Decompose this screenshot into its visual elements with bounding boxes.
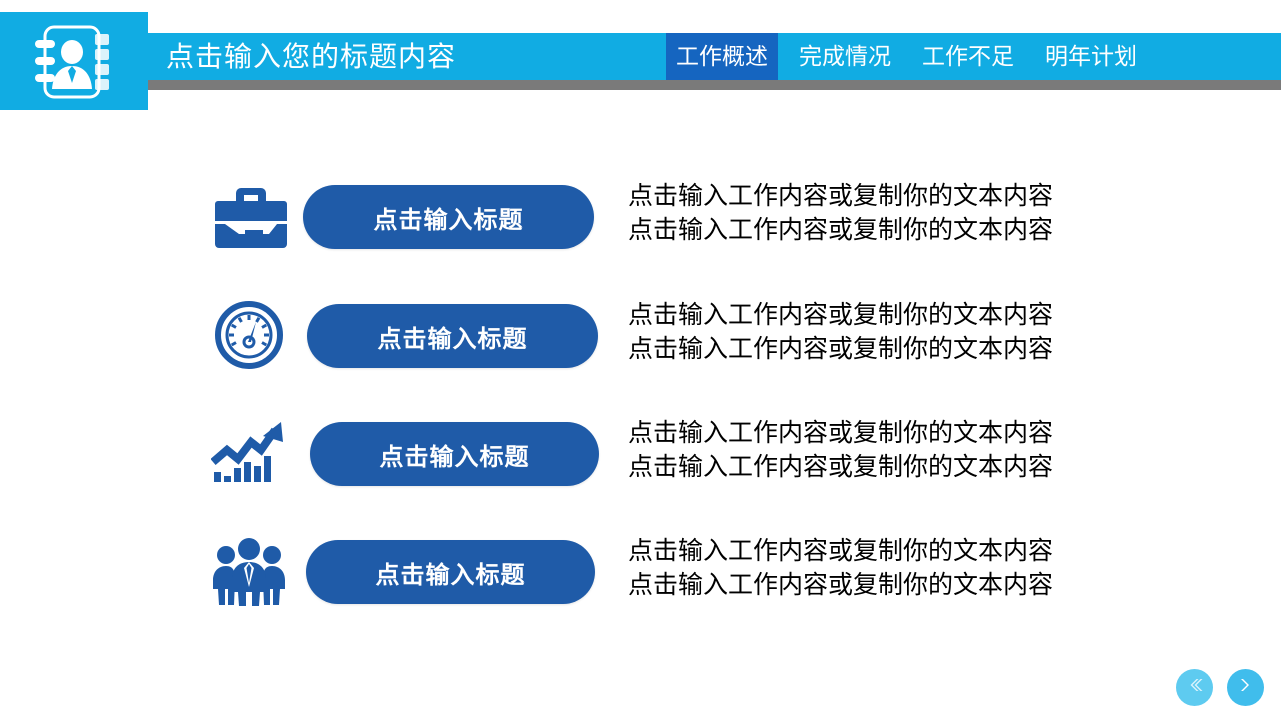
page-title: 点击输入您的标题内容	[166, 33, 456, 80]
nav-tab-next-year-plan[interactable]: 明年计划	[1035, 33, 1147, 80]
speedometer-icon	[206, 292, 292, 378]
row-description: 点击输入工作内容或复制你的文本内容 点击输入工作内容或复制你的文本内容	[628, 298, 1053, 366]
nav-tab-shortcomings[interactable]: 工作不足	[912, 33, 1024, 80]
row-description-line-2: 点击输入工作内容或复制你的文本内容	[628, 332, 1053, 366]
chevron-right-icon	[1236, 675, 1256, 700]
row-description-line-2: 点击输入工作内容或复制你的文本内容	[628, 450, 1053, 484]
row-description-line-2: 点击输入工作内容或复制你的文本内容	[628, 213, 1053, 247]
people-group-icon	[206, 528, 292, 614]
contact-book-icon	[33, 19, 117, 108]
row-description: 点击输入工作内容或复制你的文本内容 点击输入工作内容或复制你的文本内容	[628, 534, 1053, 602]
row-title-button[interactable]: 点击输入标题	[307, 304, 598, 368]
row-description: 点击输入工作内容或复制你的文本内容 点击输入工作内容或复制你的文本内容	[628, 416, 1053, 484]
next-slide-button[interactable]	[1227, 669, 1264, 706]
logo-block	[0, 12, 148, 110]
row-title-button[interactable]: 点击输入标题	[310, 422, 599, 486]
content-row: 点击输入标题 点击输入工作内容或复制你的文本内容 点击输入工作内容或复制你的文本…	[0, 169, 1281, 265]
content-row: 点击输入标题 点击输入工作内容或复制你的文本内容 点击输入工作内容或复制你的文本…	[0, 524, 1281, 620]
nav-tab-work-overview[interactable]: 工作概述	[666, 33, 778, 80]
header-gray-underline	[128, 79, 1281, 90]
slide-content: 点击输入标题 点击输入工作内容或复制你的文本内容 点击输入工作内容或复制你的文本…	[0, 112, 1281, 720]
slide-pager	[1176, 669, 1264, 706]
content-row: 点击输入标题 点击输入工作内容或复制你的文本内容 点击输入工作内容或复制你的文本…	[0, 406, 1281, 502]
content-row: 点击输入标题 点击输入工作内容或复制你的文本内容 点击输入工作内容或复制你的文本…	[0, 288, 1281, 384]
previous-slide-button[interactable]	[1176, 669, 1213, 706]
chevron-double-left-icon	[1185, 675, 1205, 700]
growth-chart-icon	[206, 410, 292, 496]
row-description-line-1: 点击输入工作内容或复制你的文本内容	[628, 179, 1053, 213]
row-description-line-2: 点击输入工作内容或复制你的文本内容	[628, 568, 1053, 602]
header-nav: 工作概述 完成情况 工作不足 明年计划	[666, 33, 1147, 80]
row-description-line-1: 点击输入工作内容或复制你的文本内容	[628, 298, 1053, 332]
row-description-line-1: 点击输入工作内容或复制你的文本内容	[628, 416, 1053, 450]
row-title-button[interactable]: 点击输入标题	[303, 185, 594, 249]
row-description-line-1: 点击输入工作内容或复制你的文本内容	[628, 534, 1053, 568]
slide-header: 点击输入您的标题内容 工作概述 完成情况 工作不足 明年计划	[0, 0, 1281, 112]
nav-tab-completion-status[interactable]: 完成情况	[789, 33, 901, 80]
row-description: 点击输入工作内容或复制你的文本内容 点击输入工作内容或复制你的文本内容	[628, 179, 1053, 247]
row-title-button[interactable]: 点击输入标题	[306, 540, 595, 604]
briefcase-icon	[208, 174, 294, 260]
